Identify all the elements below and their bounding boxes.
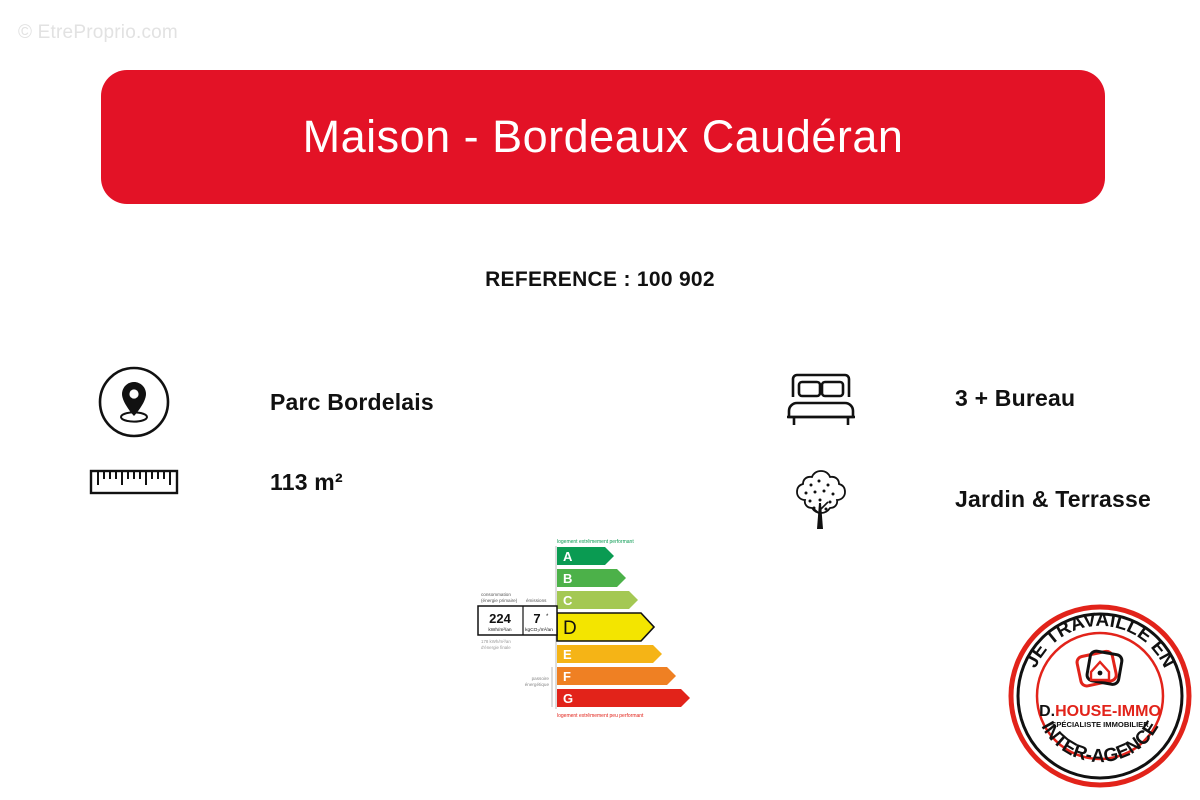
dpe-emissions-unit: kgCO₂/m²/an [525,627,553,633]
agency-badge: JE TRAVAILLE EN INTER-AGENCE D.HOUSE-IMM… [1006,602,1194,790]
dpe-svg: logement extrêmement performant A B C D … [473,533,707,723]
feature-surface-label: 113 m² [270,469,343,496]
dpe-top-caption: logement extrêmement performant [557,539,634,545]
location-pin-icon [88,365,180,439]
dpe-letter-d: D [563,618,577,639]
reference-label: REFERENCE : 100 902 [0,268,1200,292]
feature-garden-label: Jardin & Terrasse [955,486,1151,513]
dpe-letter-b: B [563,571,572,586]
dpe-bar-g [557,689,690,707]
dpe-final-energy-note-line1: 178 kWh/m²/an [481,639,511,644]
dpe-bar-f [557,667,676,685]
dpe-consumption-header: consommation [481,592,511,597]
title-banner: Maison - Bordeaux Caudéran [101,70,1105,204]
dpe-letter-f: F [563,669,571,684]
dpe-energy-label: logement extrêmement performant A B C D … [473,533,707,723]
watermark: © EtreProprio.com [18,22,178,44]
feature-rooms: 3 + Bureau [775,367,1075,429]
tree-icon [775,465,867,533]
dpe-consumption-subheader: (énergie primaire) [481,598,518,603]
feature-rooms-label: 3 + Bureau [955,385,1075,412]
feature-list: Parc Bordelais [0,355,1200,535]
feature-location-label: Parc Bordelais [270,389,434,416]
dpe-emissions-value: 7 [533,611,540,626]
dpe-consumption-value: 224 [489,611,511,626]
feature-surface: 113 m² [88,465,343,499]
dpe-letter-c: C [563,593,573,608]
badge-brand-prefix: D. [1039,703,1055,720]
dpe-class-bars: A B C D E F G [557,547,690,707]
feature-location: Parc Bordelais [88,365,434,439]
dpe-letter-a: A [563,549,573,564]
dpe-passoire-line1: passoire [532,676,550,681]
dpe-consumption-unit: kWh/m²/an [488,627,512,633]
feature-garden: Jardin & Terrasse [775,465,1151,533]
bed-icon [775,367,867,429]
dpe-bar-e [557,645,662,663]
ruler-icon [88,465,180,499]
dpe-passoire-line2: énergétique [525,682,550,687]
dpe-letter-e: E [563,647,572,662]
badge-brand-name: HOUSE-IMMO [1055,703,1161,720]
dpe-bottom-caption: logement extrêmement peu performant [557,713,644,719]
agency-badge-svg: JE TRAVAILLE EN INTER-AGENCE D.HOUSE-IMM… [1006,602,1194,790]
page-title: Maison - Bordeaux Caudéran [303,111,904,163]
dpe-letter-g: G [563,691,573,706]
badge-brand: D.HOUSE-IMMO [1039,703,1161,720]
dpe-emissions-header: émissions [526,598,547,603]
dpe-final-energy-note-line2: d'énergie finale [481,645,511,650]
badge-tagline: SPÉCIALISTE IMMOBILIER [1051,720,1149,729]
